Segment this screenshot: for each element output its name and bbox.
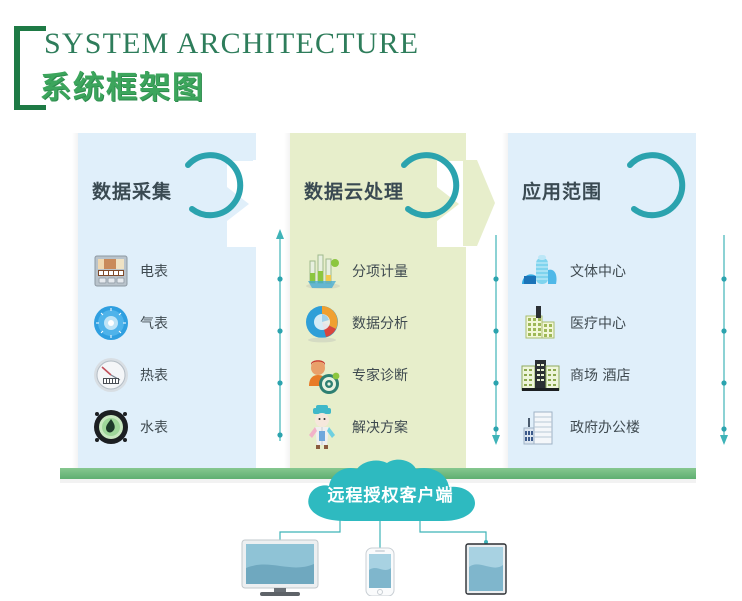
mall-hotel-icon — [518, 353, 564, 397]
column-title: 应用范围 — [522, 177, 602, 204]
medical-center-icon — [518, 301, 564, 345]
item-label: 分项计量 — [352, 261, 408, 281]
electricity-meter-icon — [88, 249, 134, 293]
list-item[interactable]: 医疗中心 — [518, 297, 706, 349]
heat-meter-icon — [88, 353, 134, 397]
list-item[interactable]: 分项计量 — [300, 245, 476, 297]
list-item[interactable]: 电表 — [88, 245, 266, 297]
connector-line — [490, 229, 502, 447]
government-building-icon — [518, 405, 564, 449]
page-title-chinese: 系统框架图 — [40, 62, 205, 107]
client-devices — [230, 518, 530, 596]
smartphone-icon — [366, 548, 394, 596]
item-label: 气表 — [140, 313, 168, 333]
item-label: 政府办公楼 — [570, 417, 640, 437]
item-label: 解决方案 — [352, 417, 408, 437]
ring-icon — [170, 149, 248, 232]
list-item[interactable]: 数据分析 — [300, 297, 476, 349]
column-item-list: 电表 气表 — [88, 245, 266, 453]
list-item[interactable]: 水表 — [88, 401, 266, 453]
solution-person-icon — [300, 405, 346, 449]
tablet-icon — [466, 544, 506, 594]
item-label: 文体中心 — [570, 261, 626, 281]
list-item[interactable]: 解决方案 — [300, 401, 476, 453]
cloud-label: 远程授权客户端 — [291, 481, 490, 506]
connector-line — [274, 229, 286, 447]
list-item[interactable]: 商场 酒店 — [518, 349, 706, 401]
item-label: 电表 — [140, 261, 168, 281]
column-title: 数据云处理 — [304, 177, 404, 204]
item-label: 水表 — [140, 417, 168, 437]
column-edge-shadow — [72, 133, 78, 470]
monitor-icon — [242, 540, 318, 596]
column-item-list: 分项计量 数据分析 — [300, 245, 476, 453]
column-item-list: 文体中心 — [518, 245, 706, 453]
item-label: 医疗中心 — [570, 313, 626, 333]
item-label: 专家诊断 — [352, 365, 408, 385]
column-data-cloud-processing: 数据云处理 — [290, 133, 466, 470]
list-item[interactable]: 气表 — [88, 297, 266, 349]
gas-meter-icon — [88, 301, 134, 345]
culture-sports-center-icon — [518, 249, 564, 293]
item-label: 商场 酒店 — [570, 365, 630, 385]
ring-icon — [612, 149, 690, 232]
item-label: 热表 — [140, 365, 168, 385]
sub-metering-icon — [300, 249, 346, 293]
list-item[interactable]: 文体中心 — [518, 245, 706, 297]
column-title: 数据采集 — [92, 177, 172, 204]
connector-line — [718, 229, 730, 447]
column-application-scope: 应用范围 — [508, 133, 696, 470]
water-meter-icon — [88, 405, 134, 449]
expert-diagnosis-icon — [300, 353, 346, 397]
list-item[interactable]: 专家诊断 — [300, 349, 476, 401]
list-item[interactable]: 政府办公楼 — [518, 401, 706, 453]
page-header: SYSTEM ARCHITECTURE 系统框架图 — [0, 0, 742, 120]
item-label: 数据分析 — [352, 313, 408, 333]
page-title-english: SYSTEM ARCHITECTURE — [44, 27, 419, 61]
column-edge-shadow — [502, 133, 508, 470]
column-data-collection: 数据采集 — [78, 133, 256, 470]
pie-chart-icon — [300, 301, 346, 345]
list-item[interactable]: 热表 — [88, 349, 266, 401]
